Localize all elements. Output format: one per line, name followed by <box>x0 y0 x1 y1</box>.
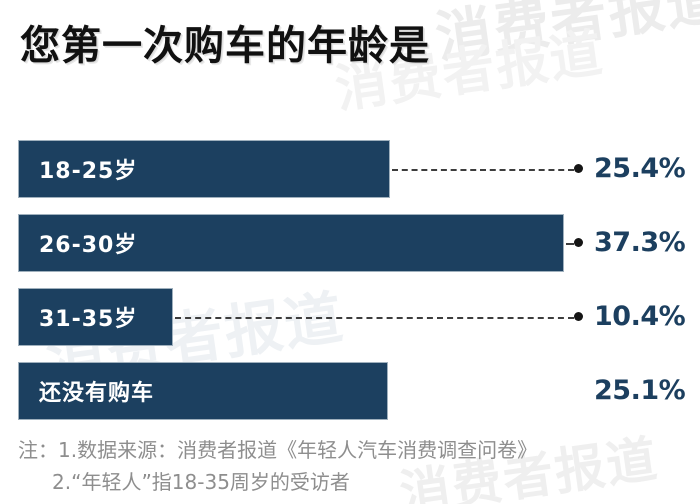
bar-rect: 还没有购车 <box>18 362 388 420</box>
footnote-source: 注：1.数据来源：消费者报道《年轻人汽车消费调查问卷》 <box>18 434 537 466</box>
bar-row: 18-25岁 25.4% <box>0 140 700 198</box>
bar-category-label: 18-25岁 <box>19 153 137 185</box>
value-connector-line <box>566 243 574 245</box>
bar-rect: 26-30岁 <box>18 214 564 272</box>
footnote-definition: 2.“年轻人”指18-35周岁的受访者 <box>18 466 537 498</box>
bar-rect: 18-25岁 <box>18 140 390 198</box>
bar-value-label: 25.4% <box>594 153 685 184</box>
chart-container: 消费者报道 消费者报道 消费者报道 消费者报道 您第一次购车的年龄是 18-25… <box>0 0 700 504</box>
bar-value-label: 10.4% <box>594 301 685 332</box>
bar-row: 26-30岁 37.3% <box>0 214 700 272</box>
bar-series: 18-25岁 25.4% 26-30岁 37.3% 31-35岁 10.4% 还… <box>0 0 700 504</box>
bar-rect: 31-35岁 <box>18 288 173 346</box>
value-connector-dot <box>574 312 583 321</box>
bar-value-label: 37.3% <box>594 227 685 258</box>
value-connector-line <box>175 317 574 319</box>
value-connector-line <box>392 169 574 171</box>
value-connector-dot <box>574 238 583 247</box>
bar-category-label: 还没有购车 <box>19 375 154 407</box>
bar-category-label: 31-35岁 <box>19 301 137 333</box>
bar-row: 31-35岁 10.4% <box>0 288 700 346</box>
bar-category-label: 26-30岁 <box>19 227 137 259</box>
chart-title: 您第一次购车的年龄是 <box>20 18 430 74</box>
bar-row: 还没有购车 25.1% <box>0 362 700 420</box>
footnote-block: 注：1.数据来源：消费者报道《年轻人汽车消费调查问卷》 2.“年轻人”指18-3… <box>18 434 537 498</box>
value-connector-dot <box>574 164 583 173</box>
bar-value-label: 25.1% <box>594 375 685 406</box>
